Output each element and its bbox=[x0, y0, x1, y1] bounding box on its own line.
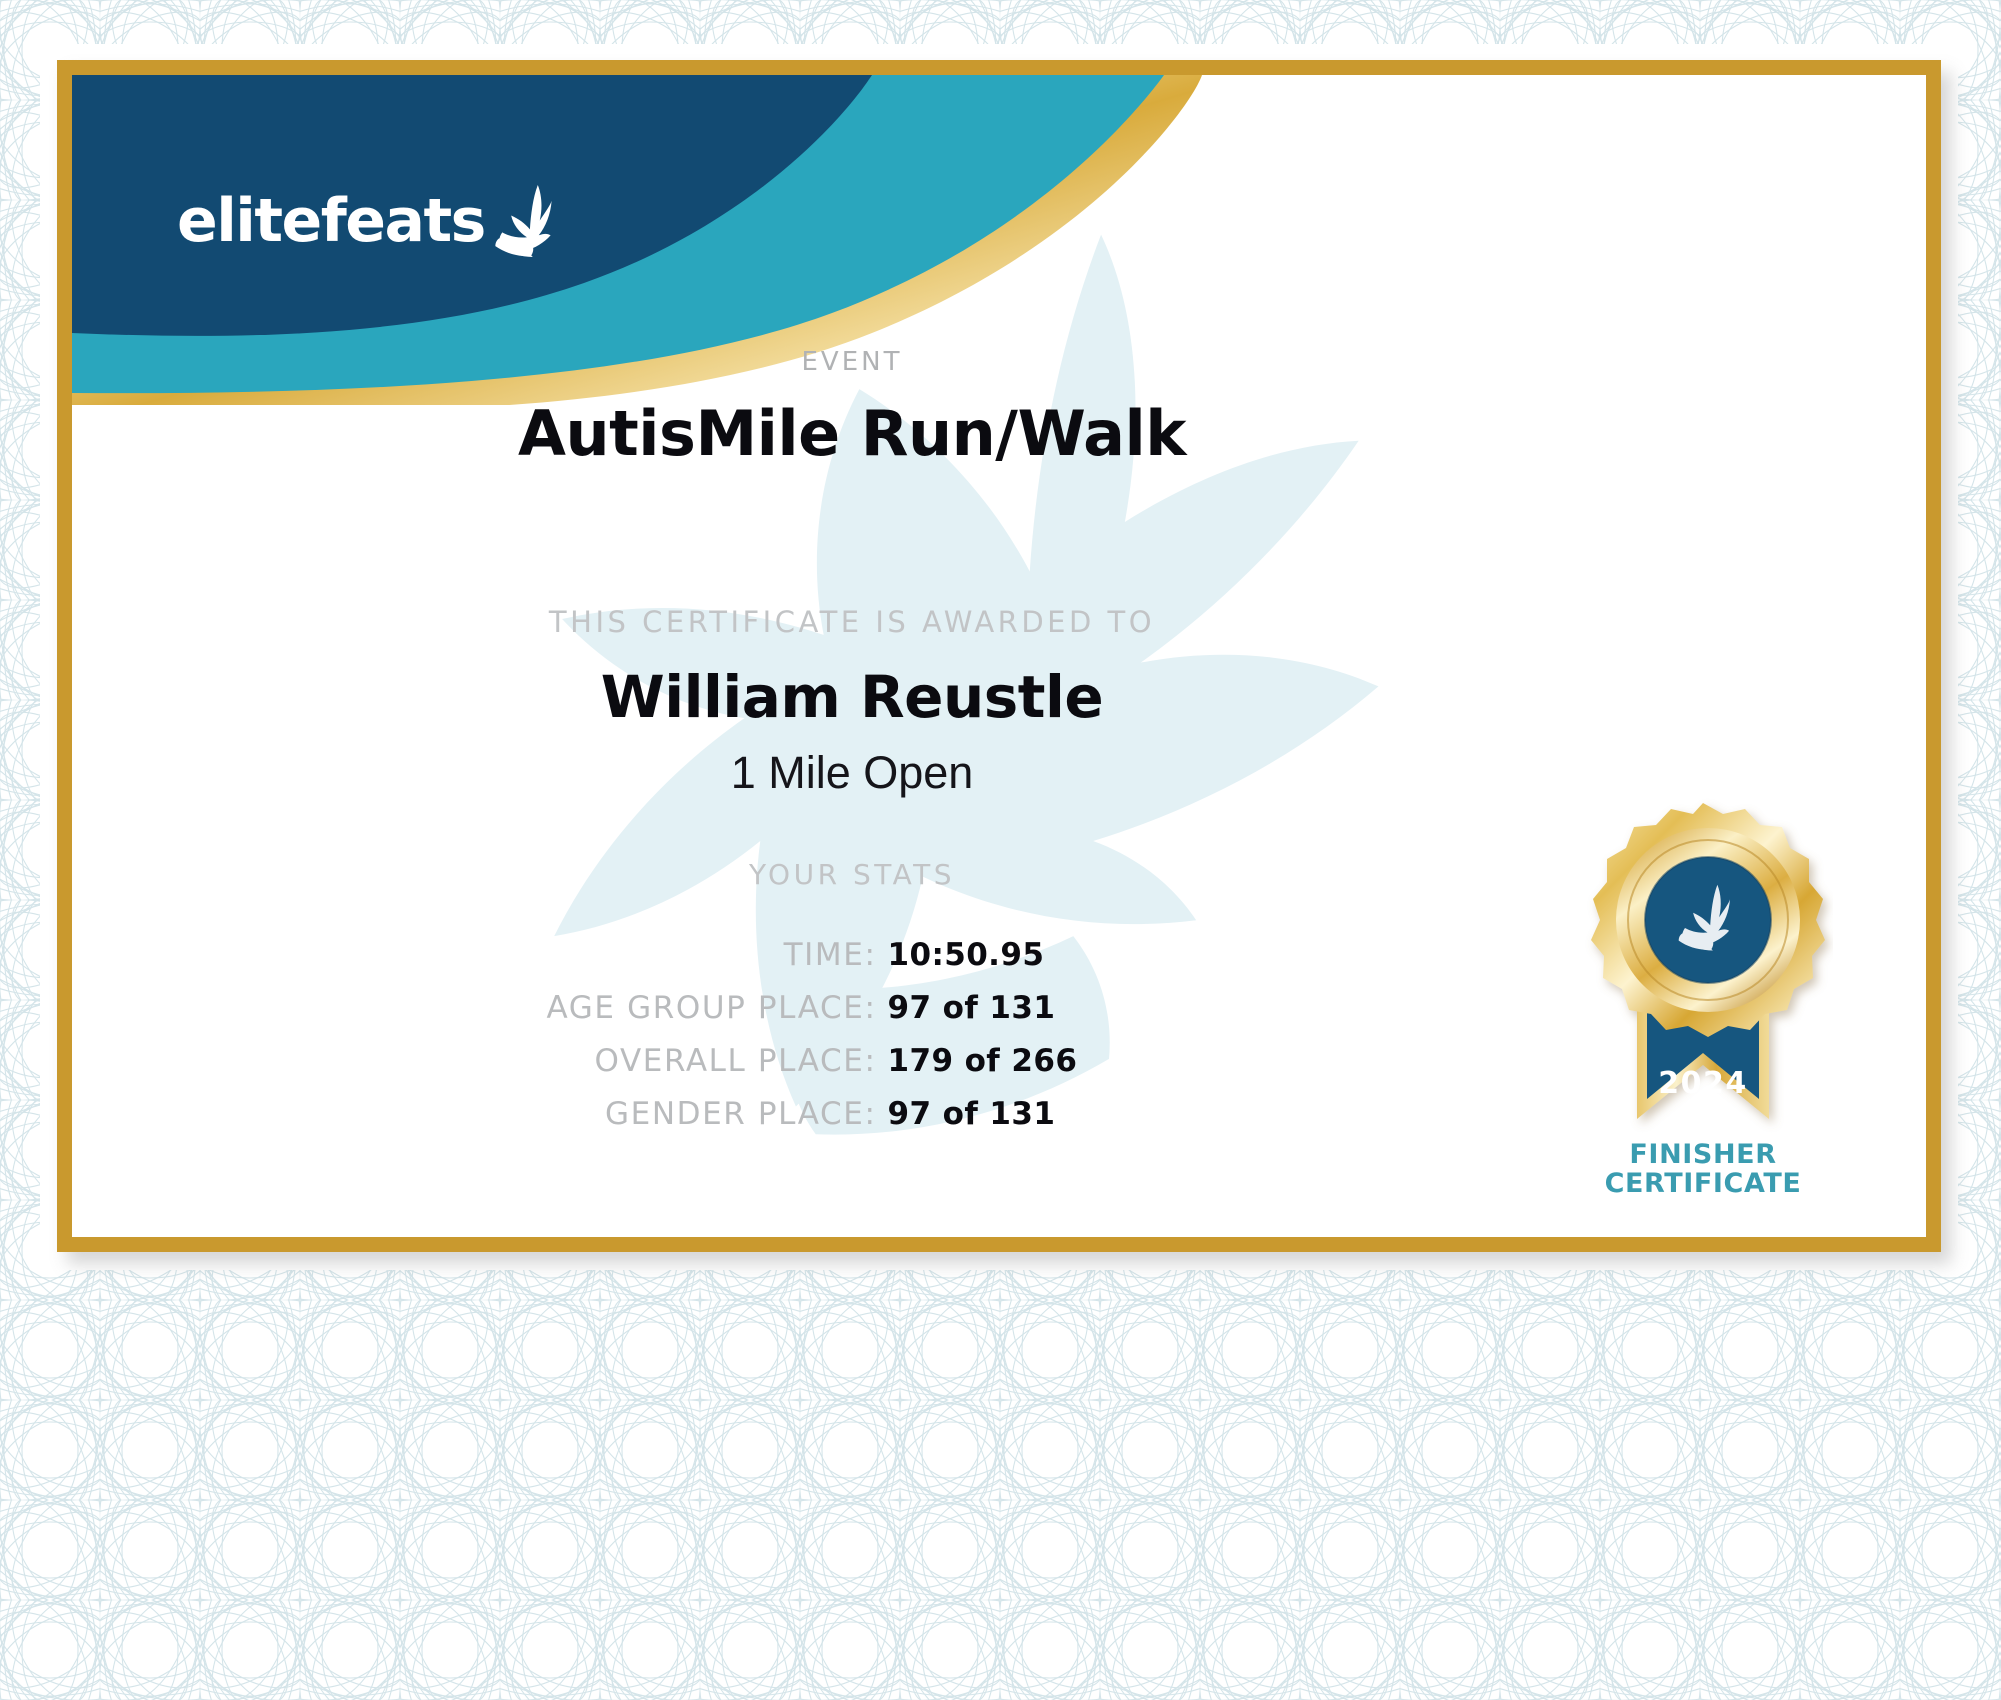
certificate-card: elitefeats EVENT AutisMile Run/Walk THIS… bbox=[57, 60, 1941, 1252]
stat-label: AGE GROUP PLACE: bbox=[377, 990, 877, 1026]
stat-row: TIME: 10:50.95 bbox=[72, 937, 1632, 973]
stat-row: GENDER PLACE: 97 of 131 bbox=[72, 1096, 1632, 1132]
logo-wordmark: elitefeats bbox=[177, 191, 485, 251]
your-stats-label: YOUR STATS bbox=[72, 858, 1632, 891]
division-name: 1 Mile Open bbox=[72, 747, 1632, 799]
event-name: AutisMile Run/Walk bbox=[72, 397, 1632, 470]
award-medal-ribbon-icon: 2024 bbox=[1573, 797, 1833, 1147]
event-label: EVENT bbox=[72, 347, 1632, 377]
stat-row: AGE GROUP PLACE: 97 of 131 bbox=[72, 990, 1632, 1026]
finisher-badge: 2024 FINISHER CERTIFICATE bbox=[1538, 797, 1868, 1217]
stat-label: TIME: bbox=[377, 937, 877, 973]
recipient-name: William Reustle bbox=[72, 663, 1632, 731]
stat-value: 97 of 131 bbox=[888, 990, 1328, 1026]
stats-list: TIME: 10:50.95 AGE GROUP PLACE: 97 of 13… bbox=[72, 937, 1632, 1149]
badge-caption-line-1: FINISHER bbox=[1538, 1141, 1868, 1170]
stat-label: OVERALL PLACE: bbox=[377, 1043, 877, 1079]
badge-caption-line-2: CERTIFICATE bbox=[1538, 1170, 1868, 1199]
certificate-page: elitefeats EVENT AutisMile Run/Walk THIS… bbox=[0, 0, 2001, 1700]
winged-foot-icon bbox=[491, 183, 553, 257]
elitefeats-logo: elitefeats bbox=[177, 183, 553, 251]
badge-caption: FINISHER CERTIFICATE bbox=[1538, 1141, 1868, 1199]
stat-label: GENDER PLACE: bbox=[377, 1096, 877, 1132]
certificate-face: elitefeats EVENT AutisMile Run/Walk THIS… bbox=[72, 75, 1926, 1237]
stat-value: 179 of 266 bbox=[888, 1043, 1328, 1079]
awarded-to-label: THIS CERTIFICATE IS AWARDED TO bbox=[72, 605, 1632, 639]
stat-value: 97 of 131 bbox=[888, 1096, 1328, 1132]
stat-row: OVERALL PLACE: 179 of 266 bbox=[72, 1043, 1632, 1079]
badge-year-text: 2024 bbox=[1658, 1066, 1748, 1101]
stat-value: 10:50.95 bbox=[888, 937, 1328, 973]
